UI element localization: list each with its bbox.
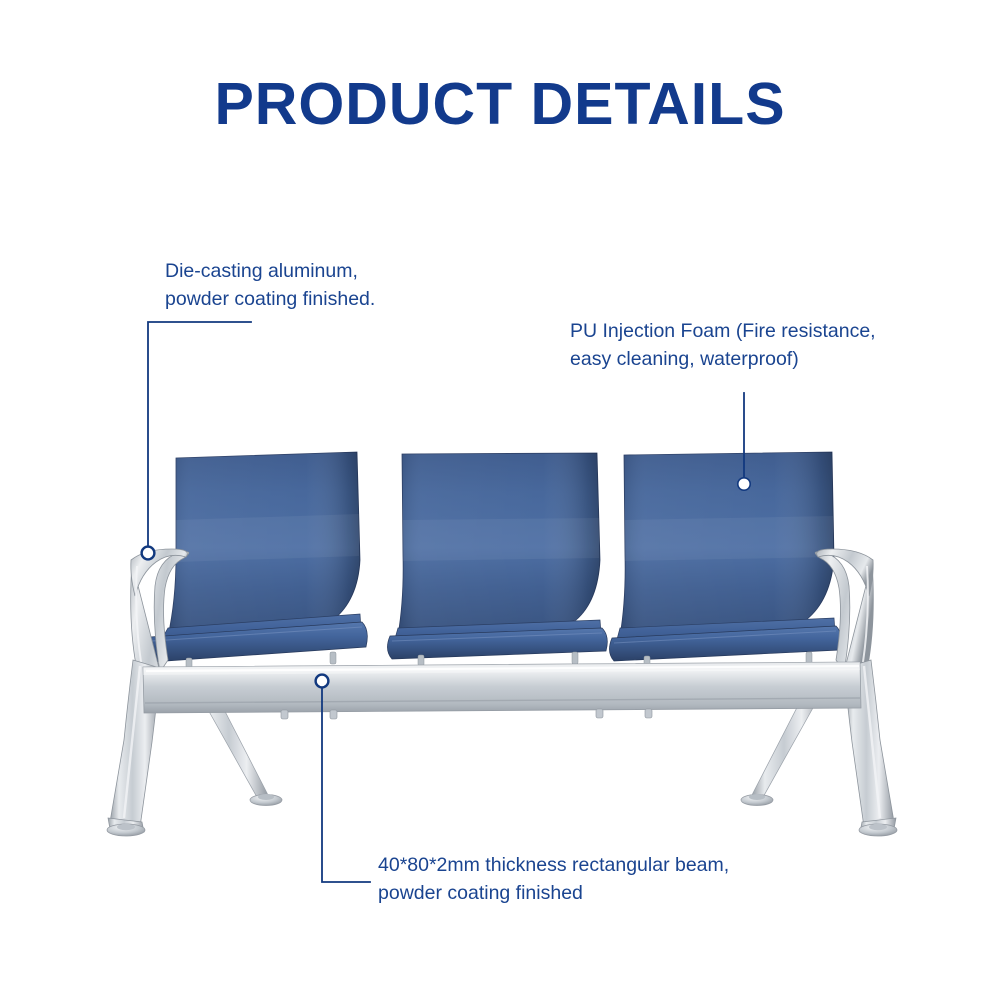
seat-right (609, 452, 841, 667)
annotation-aluminum-line2: powder coating finished. (165, 286, 375, 314)
bench-illustration (0, 0, 1000, 1000)
product-details-image: PRODUCT DETAILS (0, 0, 1000, 1000)
callout-marker-foam (738, 478, 750, 490)
support-beam (143, 662, 861, 719)
annotation-foam: PU Injection Foam (Fire resistance, easy… (570, 318, 876, 373)
annotation-beam-line2: powder coating finished (378, 880, 729, 908)
annotation-beam-line1: 40*80*2mm thickness rectangular beam, (378, 854, 729, 876)
annotation-aluminum-line1: Die-casting aluminum, (165, 260, 358, 282)
seat-middle (387, 453, 607, 666)
annotation-aluminum: Die-casting aluminum, powder coating fin… (165, 258, 375, 313)
annotation-beam: 40*80*2mm thickness rectangular beam, po… (378, 852, 729, 907)
callout-marker-beam (316, 675, 329, 688)
annotation-foam-line1: PU Injection Foam (Fire resistance, (570, 320, 876, 342)
callout-marker-aluminum (142, 547, 155, 560)
annotation-foam-line2: easy cleaning, waterproof) (570, 346, 876, 374)
